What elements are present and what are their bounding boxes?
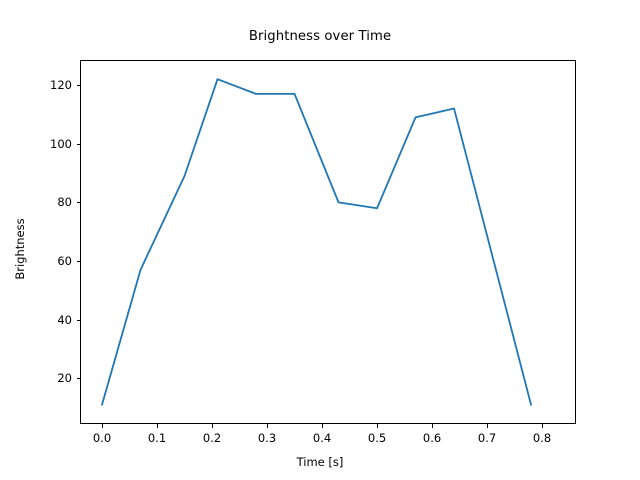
y-tick-mark [77, 144, 81, 145]
x-tick-mark [432, 424, 433, 428]
y-tick-label: 120 [40, 78, 72, 92]
chart-figure: Brightness over Time 0.00.10.20.30.40.50… [0, 0, 640, 480]
y-tick-mark [77, 202, 81, 203]
x-tick-mark [542, 424, 543, 428]
line-chart-plot [80, 60, 576, 424]
brightness-series-line [102, 79, 531, 405]
x-tick-label: 0.0 [93, 431, 111, 445]
y-tick-label: 80 [40, 195, 72, 209]
x-tick-mark [267, 424, 268, 428]
y-tick-mark [77, 378, 81, 379]
x-tick-label: 0.5 [368, 431, 386, 445]
x-tick-mark [487, 424, 488, 428]
x-tick-label: 0.1 [148, 431, 166, 445]
x-tick-label: 0.4 [313, 431, 331, 445]
y-tick-label: 40 [40, 313, 72, 327]
x-tick-label: 0.7 [478, 431, 496, 445]
x-tick-mark [157, 424, 158, 428]
x-tick-label: 0.6 [423, 431, 441, 445]
x-tick-label: 0.8 [533, 431, 551, 445]
x-tick-label: 0.3 [258, 431, 276, 445]
y-tick-mark [77, 261, 81, 262]
y-tick-mark [77, 320, 81, 321]
x-tick-label: 0.2 [203, 431, 221, 445]
y-tick-label: 60 [40, 254, 72, 268]
y-axis-label: Brightness [13, 169, 27, 329]
x-axis-label: Time [s] [0, 455, 640, 469]
y-tick-label: 100 [40, 137, 72, 151]
x-tick-mark [212, 424, 213, 428]
y-tick-label: 20 [40, 371, 72, 385]
x-tick-mark [377, 424, 378, 428]
y-tick-mark [77, 85, 81, 86]
chart-title: Brightness over Time [0, 29, 640, 44]
x-tick-mark [102, 424, 103, 428]
x-tick-mark [322, 424, 323, 428]
